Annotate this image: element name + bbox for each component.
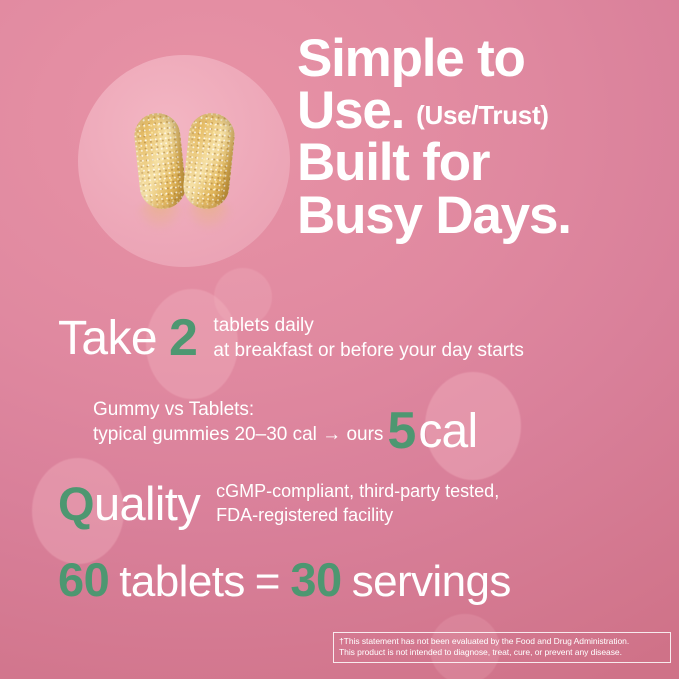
tablets-count-number: 60 [58, 552, 109, 607]
dosage-detail-line-1: tablets daily [213, 313, 524, 338]
fda-disclaimer-line-2: This product is not intended to diagnose… [339, 647, 665, 658]
quality-detail-line-1: cGMP-compliant, third-party tested, [216, 480, 499, 504]
servings-count-label: servings [342, 557, 521, 607]
tablet-right [186, 113, 232, 209]
headline-line-2: Use.(Use/Trust) [297, 85, 669, 137]
headline-line-3: Built for [297, 137, 669, 189]
servings-row: 60 tablets = 30 servings [58, 552, 521, 607]
fda-disclaimer: †This statement has not been evaluated b… [333, 632, 671, 663]
quality-row: Quality cGMP-compliant, third-party test… [58, 476, 499, 531]
calorie-compare-line-2: typical gummies 20–30 cal → ours [93, 422, 383, 447]
headline-note: (Use/Trust) [404, 100, 549, 130]
fda-disclaimer-line-1: †This statement has not been evaluated b… [339, 636, 665, 647]
calorie-amount: 5 [383, 401, 415, 461]
servings-count-number: 30 [290, 552, 341, 607]
equals-sign: = [255, 557, 291, 607]
dosage-amount: 2 [157, 308, 201, 368]
product-infographic-poster: Simple to Use.(Use/Trust) Built for Busy… [0, 0, 679, 679]
dosage-detail-line-2: at breakfast or before your day starts [213, 338, 524, 363]
dosage-detail: tablets daily at breakfast or before you… [201, 313, 524, 363]
quality-initial: Q [58, 477, 94, 530]
headline-line-4: Busy Days. [297, 190, 669, 242]
tablet-icon [132, 111, 188, 211]
dosage-label: Take [58, 311, 157, 366]
dosage-row: Take 2 tablets daily at breakfast or bef… [58, 308, 524, 368]
calorie-comparison-row: Gummy vs Tablets: typical gummies 20–30 … [93, 392, 477, 452]
headline-line-1: Simple to [297, 33, 669, 85]
headline: Simple to Use.(Use/Trust) Built for Busy… [297, 33, 669, 242]
calorie-compare-line-1: Gummy vs Tablets: [93, 397, 383, 422]
quality-label: Quality [58, 476, 200, 531]
tablet-reflection [135, 201, 185, 231]
tablet-reflection [184, 201, 234, 231]
quality-rest: uality [94, 477, 200, 530]
tablet-icon [181, 111, 237, 211]
tablet-left [137, 113, 183, 209]
tablets-count-label: tablets [109, 557, 254, 607]
product-tablets-image [78, 55, 290, 267]
calorie-unit: cal [415, 404, 477, 459]
quality-detail-line-2: FDA-registered facility [216, 504, 499, 528]
headline-line-2-text: Use. [297, 81, 404, 140]
quality-detail: cGMP-compliant, third-party tested, FDA-… [200, 480, 499, 528]
calorie-comparison-text: Gummy vs Tablets: typical gummies 20–30 … [93, 397, 383, 447]
